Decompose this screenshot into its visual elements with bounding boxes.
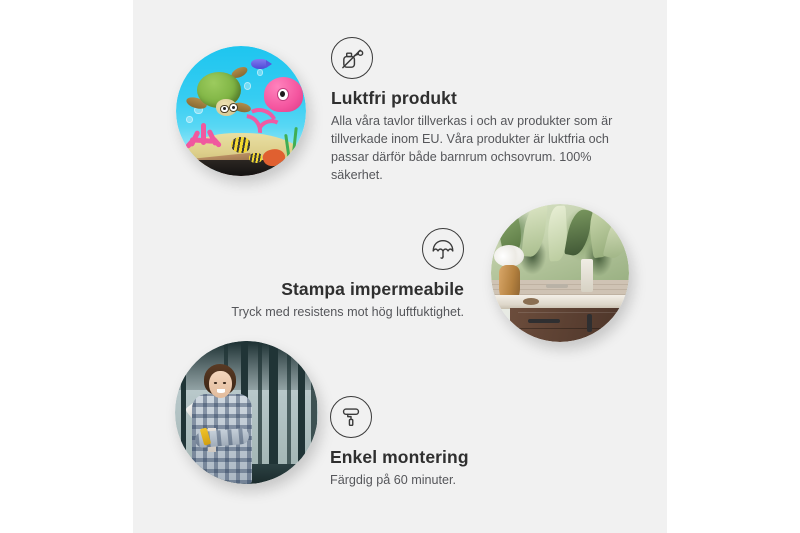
tree-trunk	[287, 341, 291, 484]
faucet	[546, 284, 568, 288]
tree-trunk	[181, 341, 187, 484]
product-image-bathroom-wallpaper	[491, 204, 629, 342]
bathroom-scene	[491, 204, 629, 342]
tree-trunk	[298, 341, 305, 484]
feature-description: Alla våra tavlor tillverkas i och av pro…	[331, 113, 627, 185]
content-panel: Luktfri produkt Alla våra tavlor tillver…	[133, 0, 667, 533]
no-fragrance-icon	[331, 37, 373, 79]
tree-trunk	[311, 341, 317, 484]
feature-title: Luktfri produkt	[331, 88, 627, 109]
tree-trunk	[269, 341, 278, 484]
soap-dispenser	[581, 259, 593, 292]
forest-scene	[175, 341, 318, 484]
tree-trunk	[258, 341, 262, 484]
leaf-shape	[521, 204, 547, 258]
feature-odorless: Luktfri produkt Alla våra tavlor tillver…	[331, 37, 627, 185]
turtle-eye-icon	[229, 103, 238, 112]
soap-dish	[523, 298, 540, 305]
woman-eye	[214, 382, 217, 383]
feature-title: Stampa impermeabile	[205, 279, 464, 300]
drawer-handle	[528, 319, 560, 323]
feature-description: Färgdig på 60 minuter.	[330, 472, 550, 490]
paint-roller-icon	[330, 396, 372, 438]
turtle-eye-icon	[220, 105, 229, 114]
woman-smile	[217, 389, 225, 392]
ocean-scene	[176, 46, 306, 176]
promo-graphic: Luktfri produkt Alla våra tavlor tillver…	[0, 0, 800, 533]
feature-waterproof: Stampa impermeabile Tryck med resistens …	[205, 228, 464, 322]
bubble-icon	[257, 69, 264, 76]
yellow-fish-icon	[249, 153, 262, 163]
product-image-forest-mural-decorator	[175, 341, 318, 484]
umbrella-icon	[422, 228, 464, 270]
feature-title: Enkel montering	[330, 447, 550, 468]
bubble-icon	[244, 82, 251, 89]
feature-easy-mounting: Enkel montering Färgdig på 60 minuter.	[330, 396, 550, 490]
leaf-shape	[564, 208, 593, 258]
woman-eye	[223, 382, 226, 383]
feature-description: Tryck med resistens mot hög luftfuktighe…	[205, 304, 464, 322]
cabinet-handle	[587, 314, 592, 332]
product-image-ocean-mural	[176, 46, 306, 176]
wood-vanity	[510, 308, 629, 343]
sea-floor-dark	[176, 160, 306, 176]
coral-icon	[186, 121, 220, 152]
blue-fish-icon	[251, 59, 268, 69]
